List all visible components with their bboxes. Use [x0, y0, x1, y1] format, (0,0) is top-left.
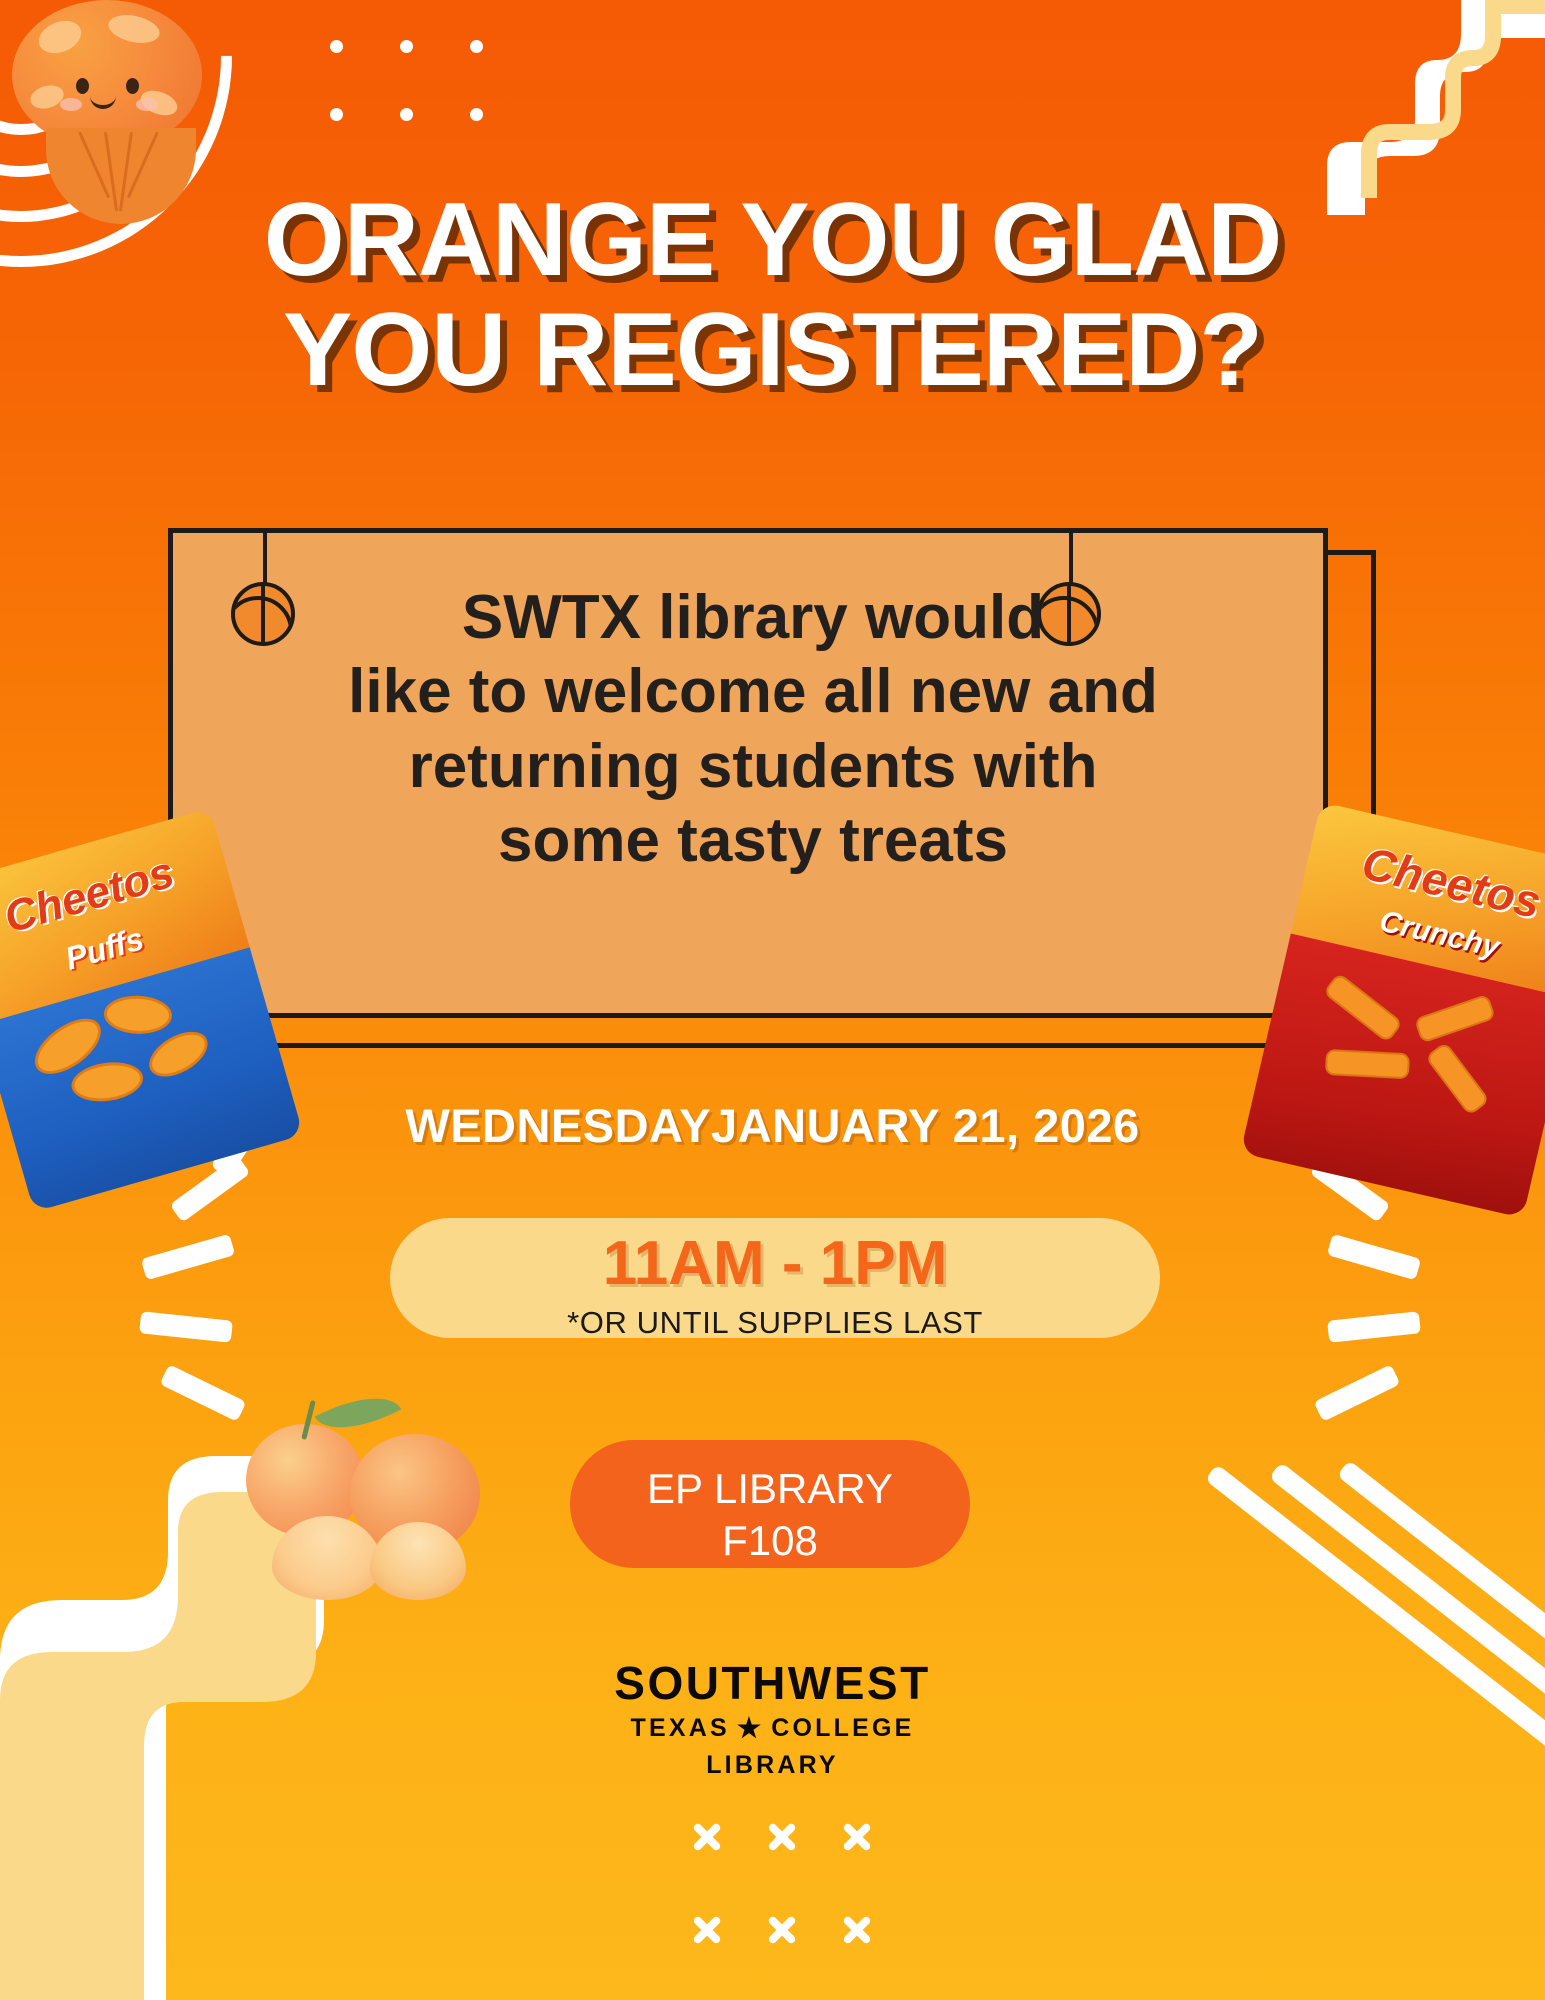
logo-texas-label: TEXAS	[630, 1716, 729, 1741]
message-panel: SWTX library would like to welcome all n…	[168, 528, 1328, 1018]
body-line-2: like to welcome all new and	[197, 655, 1309, 729]
logo-line-southwest: SOUTHWEST	[0, 1660, 1545, 1706]
event-date: WEDNESDAYJANUARY 21, 2026	[0, 1098, 1545, 1153]
event-location: EP LIBRARY F108	[570, 1463, 970, 1567]
body-line-4: some tasty treats	[197, 804, 1309, 878]
top-right-corner-decoration	[1255, 0, 1545, 215]
headline-line-2: YOU REGISTERED?	[0, 295, 1545, 405]
dot-grid-decoration	[330, 40, 510, 130]
event-time: 11AM - 1PM	[390, 1228, 1160, 1299]
star-icon: ★	[737, 1715, 764, 1742]
logo-line-texas-college: TEXAS ★ COLLEGE	[0, 1715, 1545, 1742]
message-frame: SWTX library would like to welcome all n…	[168, 528, 1378, 1048]
headline-line-1: ORANGE YOU GLAD	[264, 182, 1281, 298]
supplies-note: *OR UNTIL SUPPLIES LAST	[390, 1305, 1160, 1341]
body-line-3: returning students with	[197, 730, 1309, 804]
location-line-2: F108	[570, 1515, 970, 1567]
body-line-1: SWTX library would	[197, 581, 1309, 655]
poster-headline: ORANGE YOU GLAD YOU REGISTERED?	[0, 185, 1545, 405]
swtx-library-logo: SOUTHWEST TEXAS ★ COLLEGE LIBRARY	[0, 1660, 1545, 1778]
logo-line-library: LIBRARY	[0, 1753, 1545, 1778]
logo-college-label: COLLEGE	[771, 1716, 914, 1741]
poster-canvas: ORANGE YOU GLAD YOU REGISTERED? SWTX lib…	[0, 0, 1545, 2000]
message-body: SWTX library would like to welcome all n…	[173, 581, 1333, 879]
location-line-1: EP LIBRARY	[570, 1463, 970, 1515]
mandarin-oranges-image	[210, 1390, 510, 1620]
x-marks-decoration	[690, 1820, 880, 1950]
